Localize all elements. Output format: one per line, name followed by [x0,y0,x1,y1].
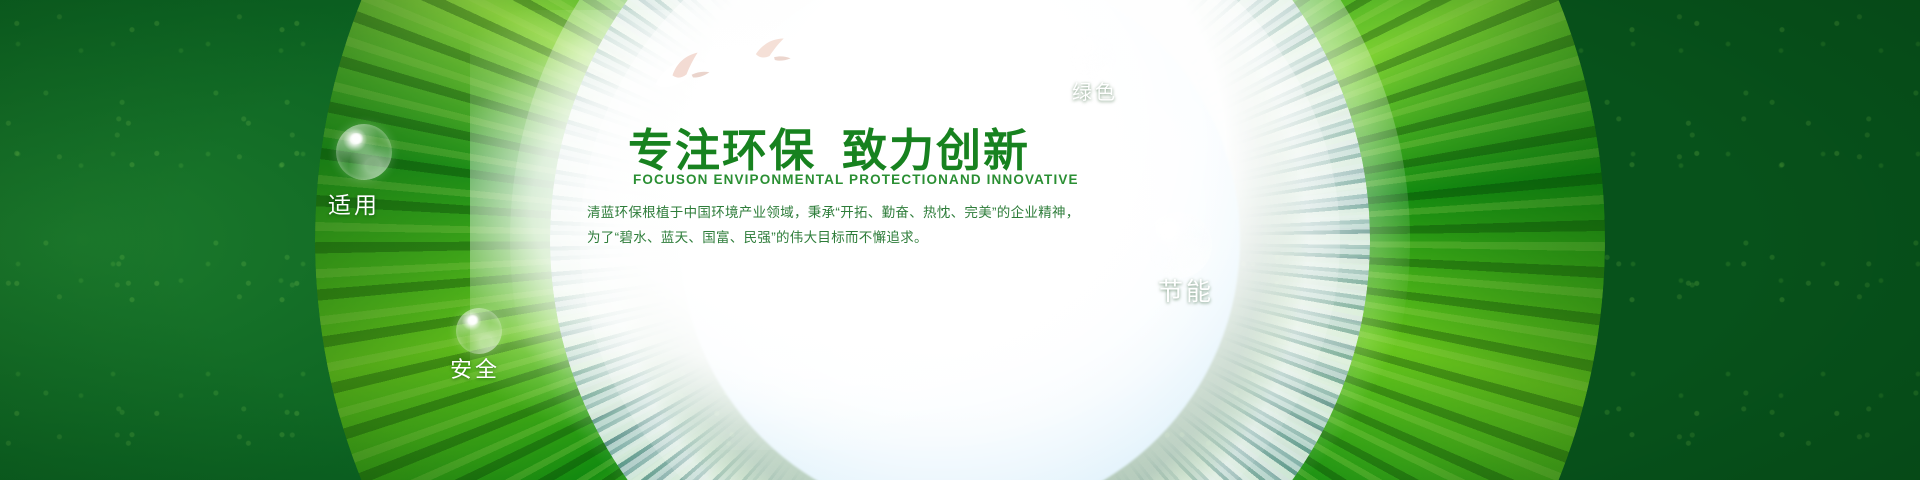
sky-opening [680,0,1240,480]
hero-banner: 专注环保致力创新 FOCUSON ENVIPONMENTAL PROTECTIO… [0,0,1920,480]
